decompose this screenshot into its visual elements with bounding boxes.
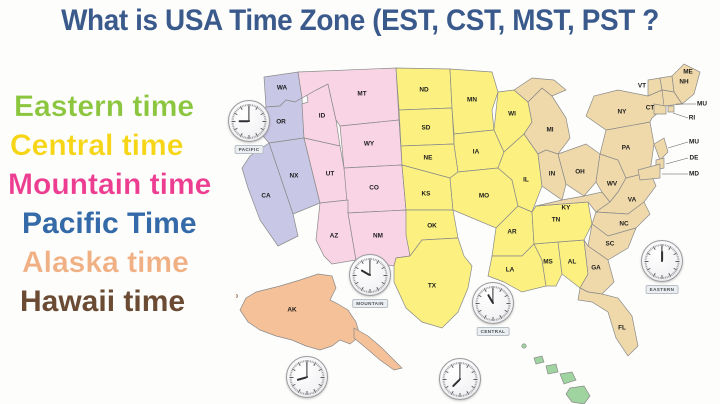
slide-canvas: What is USA Time Zone (EST, CST, MST, PS…	[0, 0, 720, 404]
clock-tick	[264, 117, 266, 118]
label-KY: KY	[562, 205, 572, 212]
label-NM: NM	[373, 233, 383, 240]
label-NE: NE	[424, 155, 434, 162]
clock-tick	[385, 278, 387, 279]
clock-tick	[264, 124, 266, 125]
label-SD: SD	[422, 125, 431, 132]
label-NC: NC	[619, 221, 629, 228]
state-NJ	[654, 138, 668, 160]
clock-tick	[232, 124, 234, 125]
clock-tick	[232, 125, 234, 127]
label-MI: MI	[546, 127, 553, 134]
label-WV: WV	[607, 181, 618, 188]
label-OK: OK	[427, 223, 437, 230]
zone-mountain	[298, 68, 410, 266]
clock-tick	[308, 392, 309, 394]
usa-time-zone-map: WA OR NX CA ID MT WY UT CO AZ NM ND SD N…	[236, 60, 720, 404]
clock-tick	[443, 380, 445, 381]
label-NH: NH	[679, 79, 689, 86]
clock-tick	[508, 306, 510, 307]
state-RI	[668, 106, 674, 112]
state-FL	[578, 288, 638, 356]
clock-tick	[247, 136, 248, 138]
label-FL: FL	[618, 325, 626, 332]
clock-tick	[307, 391, 308, 395]
label-GA: GA	[591, 265, 601, 272]
clock-tick	[475, 375, 477, 376]
label-CO: CO	[369, 185, 379, 192]
label-CA: CA	[261, 193, 271, 200]
clock-tick	[290, 381, 292, 383]
clock-tick	[443, 382, 445, 383]
label-WA: WA	[277, 85, 288, 92]
clock-label-central: CENTRAL	[477, 327, 510, 336]
label-ID: ID	[319, 113, 326, 120]
clock-minute-hand-eastern	[661, 246, 662, 261]
clock-tick	[476, 306, 478, 307]
clock-tick	[508, 304, 510, 305]
leader-RI	[673, 113, 688, 118]
state-AK	[240, 274, 360, 350]
label-AZ: AZ	[330, 233, 339, 240]
clock-tick	[676, 261, 680, 262]
state-HI-oahu	[546, 364, 558, 374]
clock-tick	[476, 304, 478, 305]
clock-tick	[249, 135, 250, 139]
clock-tick	[321, 377, 325, 378]
clock-tick	[353, 276, 355, 277]
clock-label-mountain: MOUNTAIN	[352, 299, 388, 308]
clock-minute-hand-pacific	[248, 106, 249, 121]
label-TX: TX	[428, 283, 437, 290]
label-AK: AK	[287, 307, 297, 314]
label-OR: OR	[276, 119, 286, 126]
clock-tick	[322, 378, 324, 379]
clock-tick	[645, 262, 647, 263]
label-RI: RI	[689, 115, 696, 122]
label-OH: OH	[575, 169, 585, 176]
label-PA: PA	[622, 145, 631, 152]
clock-tick	[290, 378, 292, 379]
clock-tick	[476, 303, 480, 304]
clock-tick	[443, 379, 447, 380]
label-MD: MD	[689, 171, 699, 178]
label-IN: IN	[549, 171, 556, 178]
clock-label-pacific: PACIFIC	[235, 145, 264, 154]
label-IA: IA	[473, 149, 480, 156]
legend-item-alaska: Alaska time	[22, 248, 268, 278]
label-AL: AL	[568, 259, 577, 266]
label-ME: ME	[683, 69, 693, 76]
label-CT: CT	[646, 105, 655, 112]
state-CT	[654, 104, 666, 114]
clock-minute-hand-alaska	[306, 362, 307, 377]
clock-tick	[677, 259, 679, 260]
label-NV: NX	[290, 173, 300, 180]
clock-face-central	[472, 282, 514, 324]
clock-alaska	[286, 356, 328, 398]
clock-tick	[507, 303, 511, 304]
clock-tick	[645, 264, 647, 265]
clock-tick	[662, 275, 663, 279]
clock-face-mountain	[349, 254, 391, 296]
clock-tick	[232, 121, 236, 122]
label-LA: LA	[506, 267, 515, 274]
leader-NJ	[668, 142, 688, 148]
clock-tick	[385, 273, 387, 274]
state-AK-aleutians	[354, 328, 402, 370]
label-MA: MU	[697, 101, 707, 108]
label-ND: ND	[419, 87, 429, 94]
label-KS: KS	[422, 191, 432, 198]
clock-tick	[461, 394, 462, 396]
clock-tick	[474, 379, 478, 380]
label-IL: IL	[523, 177, 529, 184]
label-SC: SC	[606, 241, 615, 248]
clock-mountain: MOUNTAIN	[349, 254, 391, 296]
state-AK-island-2	[236, 294, 238, 297]
clock-hawaii	[439, 358, 481, 400]
zone-hawaii	[522, 344, 590, 404]
clock-tick	[475, 380, 477, 381]
state-NH	[660, 76, 674, 92]
clock-minute-hand-central	[492, 288, 493, 303]
label-NY: NY	[618, 109, 628, 116]
leader-DE	[666, 158, 688, 164]
clock-tick	[677, 257, 679, 258]
clock-tick	[384, 275, 388, 276]
clock-tick	[494, 318, 495, 320]
clock-tick	[443, 383, 445, 385]
clock-tick	[458, 394, 459, 396]
clock-tick	[370, 289, 371, 293]
label-DE: DE	[690, 155, 700, 162]
clock-tick	[264, 122, 266, 123]
clock-tick	[290, 377, 294, 378]
clock-face-pacific	[228, 100, 270, 142]
clock-minute-hand-hawaii	[459, 364, 460, 379]
clock-tick	[353, 278, 355, 279]
clock-label-eastern: EASTERN	[646, 285, 679, 294]
clock-tick	[322, 373, 324, 374]
clock-tick	[368, 290, 369, 292]
clock-tick	[475, 377, 477, 378]
legend-item-hawaii: Hawaii time	[20, 287, 268, 317]
clock-tick	[677, 262, 679, 263]
clock-tick	[322, 380, 324, 381]
page-title: What is USA Time Zone (EST, CST, MST, PS…	[25, 4, 695, 38]
state-HI-kauai	[534, 356, 544, 364]
clock-tick	[353, 279, 355, 281]
label-MN: MN	[467, 97, 477, 104]
clock-tick	[491, 318, 492, 320]
state-HI-niihau	[522, 344, 526, 348]
label-MS: MS	[543, 259, 553, 266]
label-UT: UT	[326, 171, 335, 178]
clock-tick	[232, 122, 234, 123]
legend-item-mountain: Mountain time	[8, 170, 268, 200]
state-HI-bigisland	[566, 386, 590, 404]
clock-tick	[263, 121, 267, 122]
clock-face-alaska	[286, 356, 328, 398]
clock-tick	[460, 393, 461, 397]
clock-tick	[371, 290, 372, 292]
clock-tick	[385, 276, 387, 277]
label-VT: VT	[638, 83, 646, 90]
legend-item-pacific: Pacific Time	[22, 209, 268, 239]
clock-tick	[290, 380, 292, 381]
clock-tick	[663, 276, 664, 278]
clock-central: CENTRAL	[472, 282, 514, 324]
clock-tick	[322, 375, 324, 376]
state-HI-maui	[560, 372, 576, 384]
clock-face-hawaii	[439, 358, 481, 400]
clock-eastern: EASTERN	[641, 240, 683, 282]
clock-tick	[493, 317, 494, 321]
clock-pacific: PACIFIC	[228, 100, 270, 142]
label-WY: WY	[364, 141, 375, 148]
clock-tick	[508, 301, 510, 302]
clock-tick	[305, 392, 306, 394]
label-WI: WI	[508, 111, 516, 118]
clock-tick	[475, 382, 477, 383]
label-VA: VA	[628, 197, 637, 204]
clock-tick	[476, 307, 478, 309]
clock-tick	[645, 265, 647, 267]
clock-face-eastern	[641, 240, 683, 282]
clock-tick	[645, 261, 649, 262]
label-MO: MO	[479, 193, 489, 200]
clock-tick	[250, 136, 251, 138]
label-TN: TN	[552, 217, 561, 224]
clock-tick	[508, 299, 510, 300]
label-AR: AR	[507, 229, 517, 236]
clock-tick	[385, 271, 387, 272]
clock-tick	[264, 119, 266, 120]
clock-tick	[353, 275, 357, 276]
label-MT: MT	[357, 91, 366, 98]
label-NJ: MU	[689, 139, 699, 146]
clock-tick	[677, 264, 679, 265]
clock-minute-hand-mountain	[369, 260, 370, 275]
clock-tick	[660, 276, 661, 278]
